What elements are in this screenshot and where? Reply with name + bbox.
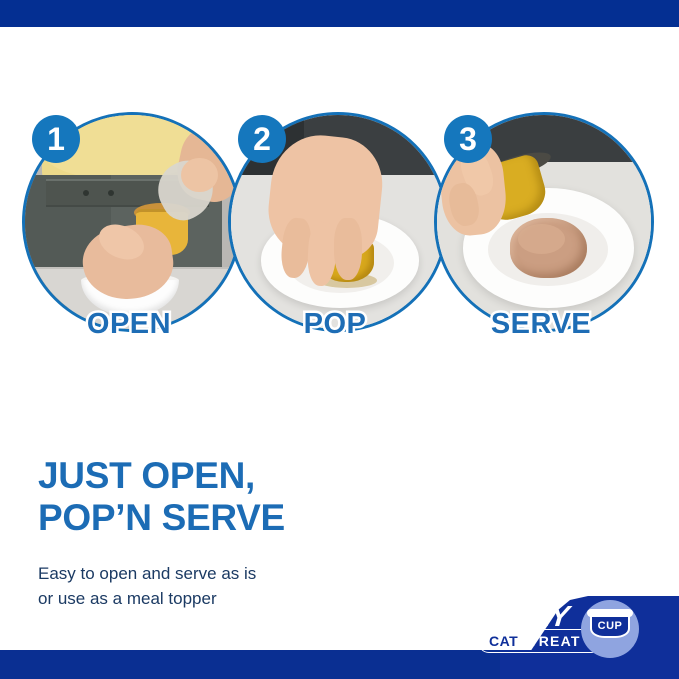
step-2: 2 POP — [228, 112, 448, 332]
subtext-line-2: or use as a meal topper — [38, 587, 378, 612]
step-2-label: POP — [228, 308, 442, 341]
headline: JUST OPEN, POP’N SERVE — [38, 455, 458, 539]
logo-treat-label: TREAT — [529, 633, 581, 649]
logo-background-fill — [500, 650, 679, 679]
headline-line-2: POP’N SERVE — [38, 497, 458, 539]
subtext: Easy to open and serve as is or use as a… — [38, 562, 378, 611]
cup-rim-icon — [587, 609, 633, 617]
step-1: 1 OPEN — [22, 112, 242, 332]
step-1-number: 1 — [32, 115, 80, 163]
step-1-label: OPEN — [22, 308, 236, 341]
top-brand-bar — [0, 0, 679, 27]
headline-line-1: JUST OPEN, — [38, 455, 458, 497]
product-feature-graphic: 1 OPEN 2 — [0, 0, 679, 679]
steps-row: 1 OPEN 2 — [0, 112, 679, 362]
logo-cup-label: CUP — [590, 620, 630, 632]
step-2-number: 2 — [238, 115, 286, 163]
step-3-number: 3 — [444, 115, 492, 163]
step-3: 3 SERVE — [434, 112, 654, 332]
brand-logo: JELLY CAT TREAT CUP — [440, 596, 679, 679]
step-3-label: SERVE — [434, 308, 648, 341]
logo-cat-pill: CAT — [482, 632, 525, 650]
subtext-line-1: Easy to open and serve as is — [38, 562, 378, 587]
